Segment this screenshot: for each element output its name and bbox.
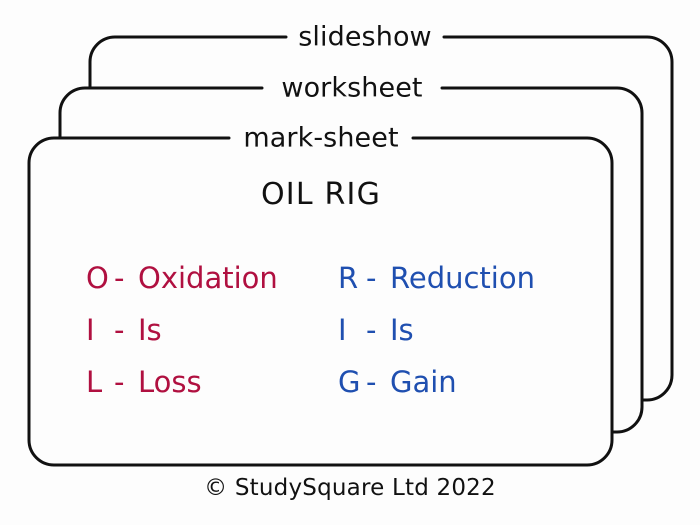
mnemonic-word: Is — [390, 316, 414, 345]
mnemonic-word: Loss — [138, 368, 202, 397]
mnemonic-row: I - Is — [86, 304, 338, 356]
mnemonic-row: G - Gain — [338, 356, 590, 408]
mnemonic-row: I - Is — [338, 304, 590, 356]
mnemonic-grid: O - Oxidation I - Is L - Loss — [32, 252, 610, 408]
tab-label-worksheet[interactable]: worksheet — [272, 75, 431, 102]
flashcard-stage: slideshow worksheet mark-sheet OIL RIG O… — [0, 0, 700, 525]
mnemonic-column-oxidation: O - Oxidation I - Is L - Loss — [86, 252, 338, 408]
mnemonic-word: Gain — [390, 368, 457, 397]
mnemonic-letter: I — [86, 316, 114, 345]
mnemonic-word: Is — [138, 316, 162, 345]
card-stack: slideshow worksheet mark-sheet OIL RIG O… — [0, 0, 700, 480]
mnemonic-letter: I — [338, 316, 366, 345]
mnemonic-dash: - — [114, 264, 138, 293]
copyright-footer: © StudySquare Ltd 2022 — [0, 477, 700, 500]
mnemonic-dash: - — [366, 264, 390, 293]
mnemonic-letter: O — [86, 264, 114, 293]
mnemonic-row: L - Loss — [86, 356, 338, 408]
mnemonic-dash: - — [114, 368, 138, 397]
mnemonic-row: R - Reduction — [338, 252, 590, 304]
mnemonic-row: O - Oxidation — [86, 252, 338, 304]
mnemonic-dash: - — [114, 316, 138, 345]
mnemonic-word: Oxidation — [138, 264, 278, 293]
mnemonic-letter: R — [338, 264, 366, 293]
mnemonic-word: Reduction — [390, 264, 535, 293]
mnemonic-letter: G — [338, 368, 366, 397]
mnemonic-dash: - — [366, 316, 390, 345]
mnemonic-column-reduction: R - Reduction I - Is G - Gain — [338, 252, 590, 408]
mnemonic-letter: L — [86, 368, 114, 397]
card-title: OIL RIG — [32, 180, 610, 210]
mnemonic-dash: - — [366, 368, 390, 397]
front-card-content: OIL RIG O - Oxidation I - Is L — [32, 140, 610, 462]
tab-label-slideshow[interactable]: slideshow — [289, 24, 441, 51]
